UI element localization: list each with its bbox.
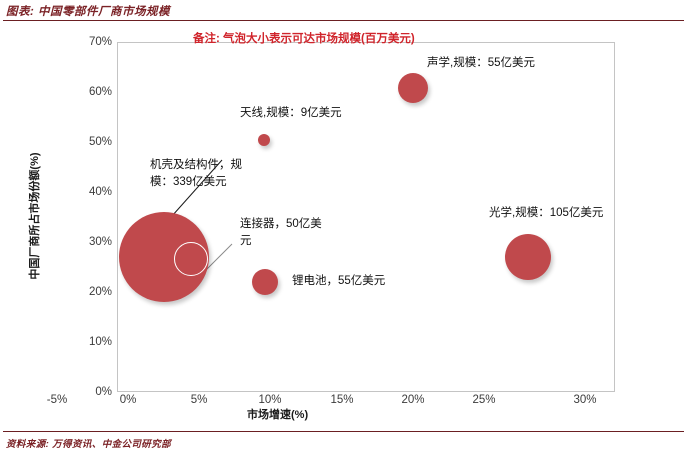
bubble-battery[interactable] [252,269,278,295]
bubble-label-connector: 连接器，50亿美 元 [240,216,322,250]
bubble-label-acoustics: 声学,规模：55亿美元 [427,55,535,72]
y-tick-50: 50% [66,136,112,148]
chart-annotation-note: 备注: 气泡大小表示可达市场规模(百万美元) [193,30,415,46]
x-axis-title: 市场增速(%) [247,406,487,422]
x-tick-30: 30% [555,394,615,406]
y-tick-70: 70% [66,36,112,48]
x-tick-15: 15% [312,394,372,406]
footer-divider [3,431,684,432]
bubble-optical[interactable] [505,234,551,280]
source-note: 资料来源: 万得资讯、中金公司研究部 [6,436,171,450]
x-tick-5: 5% [169,394,229,406]
bubble-label-housing: 机壳及结构件，规 模：339亿美元 [150,157,242,191]
page-title: 图表: 中国零部件厂商市场规模 [6,3,170,19]
y-tick-20: 20% [66,286,112,298]
bubble-label-battery: 锂电池，55亿美元 [292,273,385,290]
y-axis-title: 中国厂商所占市场份额(%) [26,66,42,366]
x-tick-0: 0% [98,394,158,406]
bubble-acoustics[interactable] [398,73,428,103]
y-tick-60: 60% [66,86,112,98]
bubble-label-antenna: 天线,规模：9亿美元 [240,105,342,122]
bubble-connector[interactable] [174,242,208,276]
x-tick-20: 20% [383,394,443,406]
y-tick-10: 10% [66,336,112,348]
x-tick-25: 25% [454,394,514,406]
x-tick-10: 10% [240,394,300,406]
y-tick-40: 40% [66,186,112,198]
x-tick-neg5: -5% [27,394,87,406]
y-tick-30: 30% [66,236,112,248]
chart-header: 图表: 中国零部件厂商市场规模 [0,0,687,22]
bubble-antenna[interactable] [258,134,270,146]
bubble-label-optical: 光学,规模：105亿美元 [489,205,603,222]
header-divider [3,20,684,21]
